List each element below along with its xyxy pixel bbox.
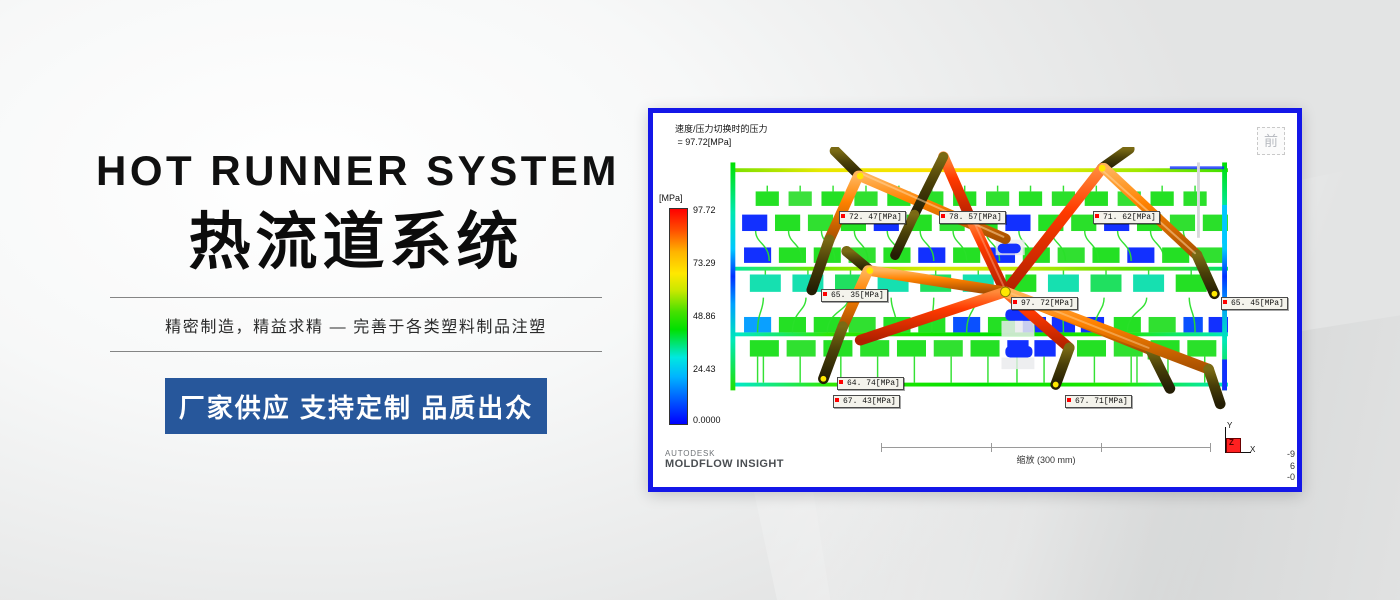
divider-bottom bbox=[110, 351, 602, 352]
node-left-mid bbox=[866, 267, 873, 274]
callout-2[interactable]: 71. 62[MPa] bbox=[1093, 211, 1160, 224]
subtitle: 精密制造，精益求精 — 完善于各类塑料制品注塑 bbox=[96, 298, 616, 351]
promo-banner: HOT RUNNER SYSTEM 热流道系统 精密制造，精益求精 — 完善于各… bbox=[0, 0, 1400, 600]
callout-value: 78. 57[MPa] bbox=[949, 213, 1002, 222]
node-bottom-mid bbox=[1053, 382, 1059, 388]
callout-value: 64. 74[MPa] bbox=[847, 379, 900, 388]
callout-value: 65. 45[MPa] bbox=[1231, 299, 1284, 308]
page-title-cn: 热流道系统 bbox=[96, 206, 616, 279]
scale-bar-label: 缩放 (300 mm) bbox=[881, 453, 1211, 466]
legend-tick-1: 73.29 bbox=[693, 258, 716, 268]
insert-part-b bbox=[1001, 321, 1034, 336]
callout-marker-icon bbox=[835, 398, 839, 402]
manifold-bar-3 bbox=[732, 332, 1228, 336]
node-right-mid bbox=[1212, 291, 1218, 297]
callout-0[interactable]: 72. 47[MPa] bbox=[839, 211, 906, 224]
callout-1[interactable]: 78. 57[MPa] bbox=[939, 211, 1006, 224]
legend-colorbar bbox=[669, 208, 688, 425]
coordinate-readout: -9 6 -0 bbox=[1287, 449, 1295, 483]
callout-marker-icon bbox=[1067, 398, 1071, 402]
callout-value: 65. 35[MPa] bbox=[831, 291, 884, 300]
callout-value: 71. 62[MPa] bbox=[1103, 213, 1156, 222]
callout-3[interactable]: 65. 35[MPa] bbox=[821, 289, 888, 302]
sprue-vertical-right bbox=[1222, 162, 1227, 390]
callout-value: 67. 43[MPa] bbox=[843, 397, 896, 406]
coordinate-y: 6 bbox=[1287, 461, 1295, 472]
manifold-bar-2 bbox=[732, 267, 1228, 271]
moldflow-screenshot: 速度/压力切换时的压力 = 97.72[MPa] 前 [MPa] 97.72 7… bbox=[648, 108, 1302, 492]
insert-part-f bbox=[998, 244, 1021, 254]
axis-label-y: Y bbox=[1227, 421, 1232, 430]
brand-line-2: MOLDFLOW INSIGHT bbox=[665, 458, 784, 471]
node-bottom-left bbox=[820, 376, 826, 382]
manifold-bar-4 bbox=[732, 383, 1228, 387]
axis-label-z: Z bbox=[1229, 438, 1234, 447]
divider-top bbox=[110, 297, 602, 298]
legend-tick-2: 48.86 bbox=[693, 311, 716, 321]
cta-button[interactable]: 厂家供应 支持定制 品质出众 bbox=[165, 378, 547, 434]
callout-value: 97. 72[MPa] bbox=[1021, 299, 1074, 308]
callout-value: 67. 71[MPa] bbox=[1075, 397, 1128, 406]
sprue-vertical-left bbox=[730, 162, 735, 390]
callout-marker-icon bbox=[1095, 214, 1099, 218]
pressure-result-plot bbox=[715, 147, 1257, 429]
callout-marker-icon bbox=[823, 292, 827, 296]
brand-line-1: AUTODESK bbox=[665, 449, 784, 458]
callout-4[interactable]: 97. 72[MPa] bbox=[1011, 297, 1078, 310]
result-title: 速度/压力切换时的压力 = 97.72[MPa] bbox=[675, 123, 768, 149]
callout-5[interactable]: 65. 45[MPa] bbox=[1221, 297, 1288, 310]
headline-block: HOT RUNNER SYSTEM 热流道系统 精密制造，精益求精 — 完善于各… bbox=[96, 150, 616, 434]
scale-bar: 缩放 (300 mm) bbox=[881, 443, 1211, 467]
callout-marker-icon bbox=[1013, 300, 1017, 304]
callout-marker-icon bbox=[841, 214, 845, 218]
callout-marker-icon bbox=[839, 380, 843, 384]
manifold-bar-1 bbox=[732, 168, 1228, 172]
callout-marker-icon bbox=[941, 214, 945, 218]
legend-tick-0: 97.72 bbox=[693, 205, 716, 215]
page-title-en: HOT RUNNER SYSTEM bbox=[96, 150, 616, 192]
callout-marker-icon bbox=[1223, 300, 1227, 304]
scale-bar-line bbox=[881, 447, 1211, 448]
callout-6[interactable]: 64. 74[MPa] bbox=[837, 377, 904, 390]
node-right-top bbox=[1099, 165, 1106, 172]
hub-node bbox=[1001, 287, 1011, 297]
autodesk-brand: AUTODESK MOLDFLOW INSIGHT bbox=[665, 449, 784, 471]
view-orientation-label: 前 bbox=[1264, 131, 1278, 151]
axis-label-x: X bbox=[1250, 445, 1255, 454]
legend-tick-3: 24.43 bbox=[693, 364, 716, 374]
view-orientation-button[interactable]: 前 bbox=[1257, 127, 1285, 155]
callout-7[interactable]: 67. 43[MPa] bbox=[833, 395, 900, 408]
simulation-viewport[interactable]: 72. 47[MPa] 78. 57[MPa] 71. 62[MPa] 65. … bbox=[715, 147, 1257, 429]
node-left-top bbox=[857, 173, 864, 180]
coordinate-z: -0 bbox=[1287, 472, 1295, 483]
callout-8[interactable]: 67. 71[MPa] bbox=[1065, 395, 1132, 408]
callout-value: 72. 47[MPa] bbox=[849, 213, 902, 222]
insert-part-d bbox=[1001, 358, 1034, 370]
palm-frond-icon bbox=[0, 0, 144, 156]
insert-part-c bbox=[1005, 346, 1032, 358]
axis-triad: Z X Y bbox=[1223, 425, 1263, 461]
cta-label: 厂家供应 支持定制 品质出众 bbox=[179, 388, 533, 425]
coordinate-x: -9 bbox=[1287, 449, 1295, 460]
